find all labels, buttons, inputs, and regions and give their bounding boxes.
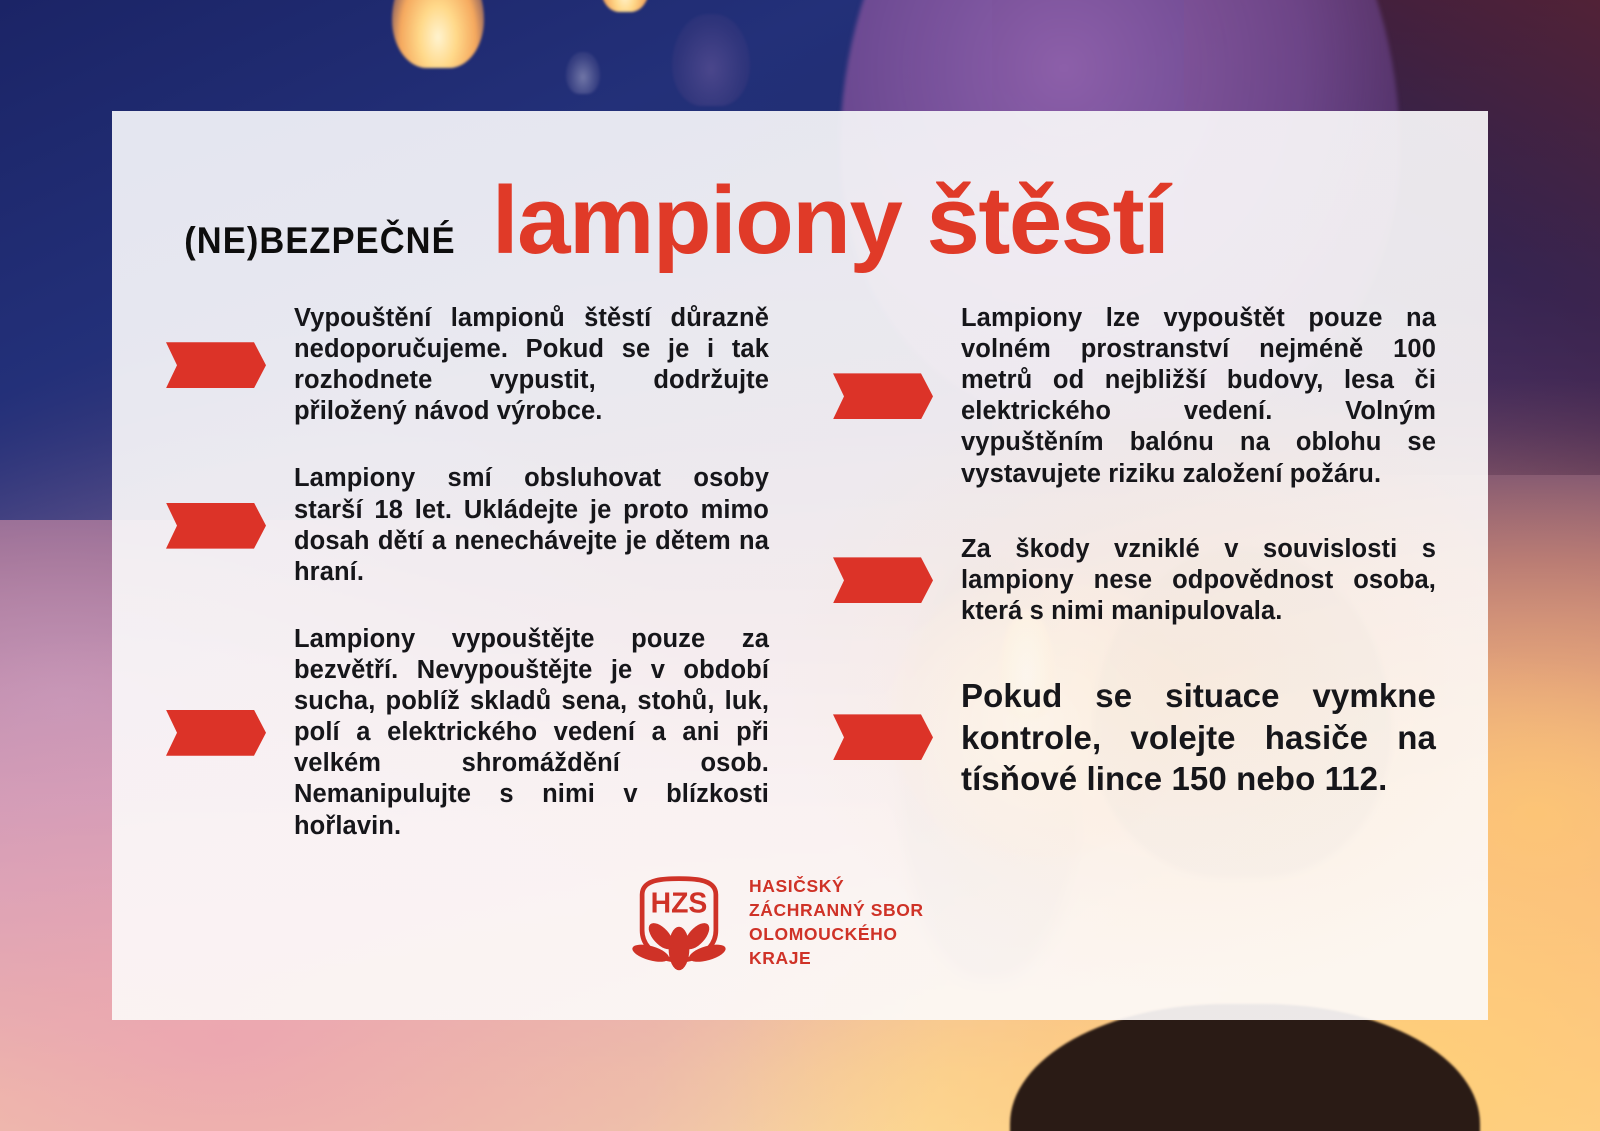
list-item-text: Za škody vzniklé v souvislosti s lampion… [961, 534, 1436, 627]
list-item-text: Lampiony vypouštějte pouze za bezvětří. … [294, 624, 769, 842]
sky-lantern-4 [672, 14, 750, 106]
poster-root: (NE)BEZPEČNÉ lampiony štěstí Vypouštění … [0, 0, 1600, 1131]
bullet-columns: Vypouštění lampionů štěstí důrazně nedop… [112, 269, 1488, 842]
marker-slot [158, 710, 294, 756]
list-item: Lampiony vypouštějte pouze za bezvětří. … [158, 624, 769, 842]
list-item-text: Vypouštění lampionů štěstí důrazně nedop… [294, 303, 769, 427]
hzs-logo-text: HASIČSKÝ ZÁCHRANNÝ SBOR OLOMOUCKÉHO KRAJ… [749, 874, 924, 971]
red-chevron-icon [166, 342, 266, 388]
red-chevron-icon [833, 557, 933, 603]
red-chevron-icon [166, 503, 266, 549]
red-chevron-icon [833, 714, 933, 760]
right-column: Lampiony lze vypouštět pouze na volném p… [825, 303, 1436, 842]
svg-text:HZS: HZS [651, 888, 708, 920]
logo-line-2: ZÁCHRANNÝ SBOR [749, 898, 924, 922]
logo-line-4: KRAJE [749, 946, 924, 970]
red-chevron-icon [166, 710, 266, 756]
logo-line-3: OLOMOUCKÉHO [749, 922, 924, 946]
list-item: Lampiony smí obsluhovat osoby starší 18 … [158, 463, 769, 587]
marker-slot [825, 557, 961, 603]
logo-line-1: HASIČSKÝ [749, 874, 924, 898]
list-item-text: Lampiony smí obsluhovat osoby starší 18 … [294, 463, 769, 587]
list-item-emergency: Pokud se situace vymkne kontrole, volejt… [825, 675, 1436, 800]
left-column: Vypouštění lampionů štěstí důrazně nedop… [158, 303, 769, 842]
list-item: Vypouštění lampionů štěstí důrazně nedop… [158, 303, 769, 427]
sky-lantern-1 [392, 0, 484, 68]
hzs-shield-flower-icon: HZS [627, 870, 731, 974]
emergency-call-text: Pokud se situace vymkne kontrole, volejt… [961, 675, 1436, 800]
marker-slot [825, 373, 961, 419]
list-item: Lampiony lze vypouštět pouze na volném p… [825, 303, 1436, 490]
content-card: (NE)BEZPEČNÉ lampiony štěstí Vypouštění … [112, 111, 1488, 1020]
red-chevron-icon [833, 373, 933, 419]
marker-slot [825, 714, 961, 760]
list-item-text: Lampiony lze vypouštět pouze na volném p… [961, 303, 1436, 490]
marker-slot [158, 342, 294, 388]
poster-heading: (NE)BEZPEČNÉ lampiony štěstí [112, 111, 1488, 269]
page-title: lampiony štěstí [492, 173, 1168, 269]
hzs-logo: HZS HASIČSKÝ ZÁCHRANNÝ SBOR OLOMOUCKÉHO … [627, 870, 924, 974]
list-item: Za škody vzniklé v souvislosti s lampion… [825, 534, 1436, 627]
marker-slot [158, 503, 294, 549]
person-body-silhouette [1010, 1004, 1480, 1131]
heading-kicker: (NE)BEZPEČNÉ [184, 220, 455, 262]
sky-lantern-3 [566, 52, 600, 94]
